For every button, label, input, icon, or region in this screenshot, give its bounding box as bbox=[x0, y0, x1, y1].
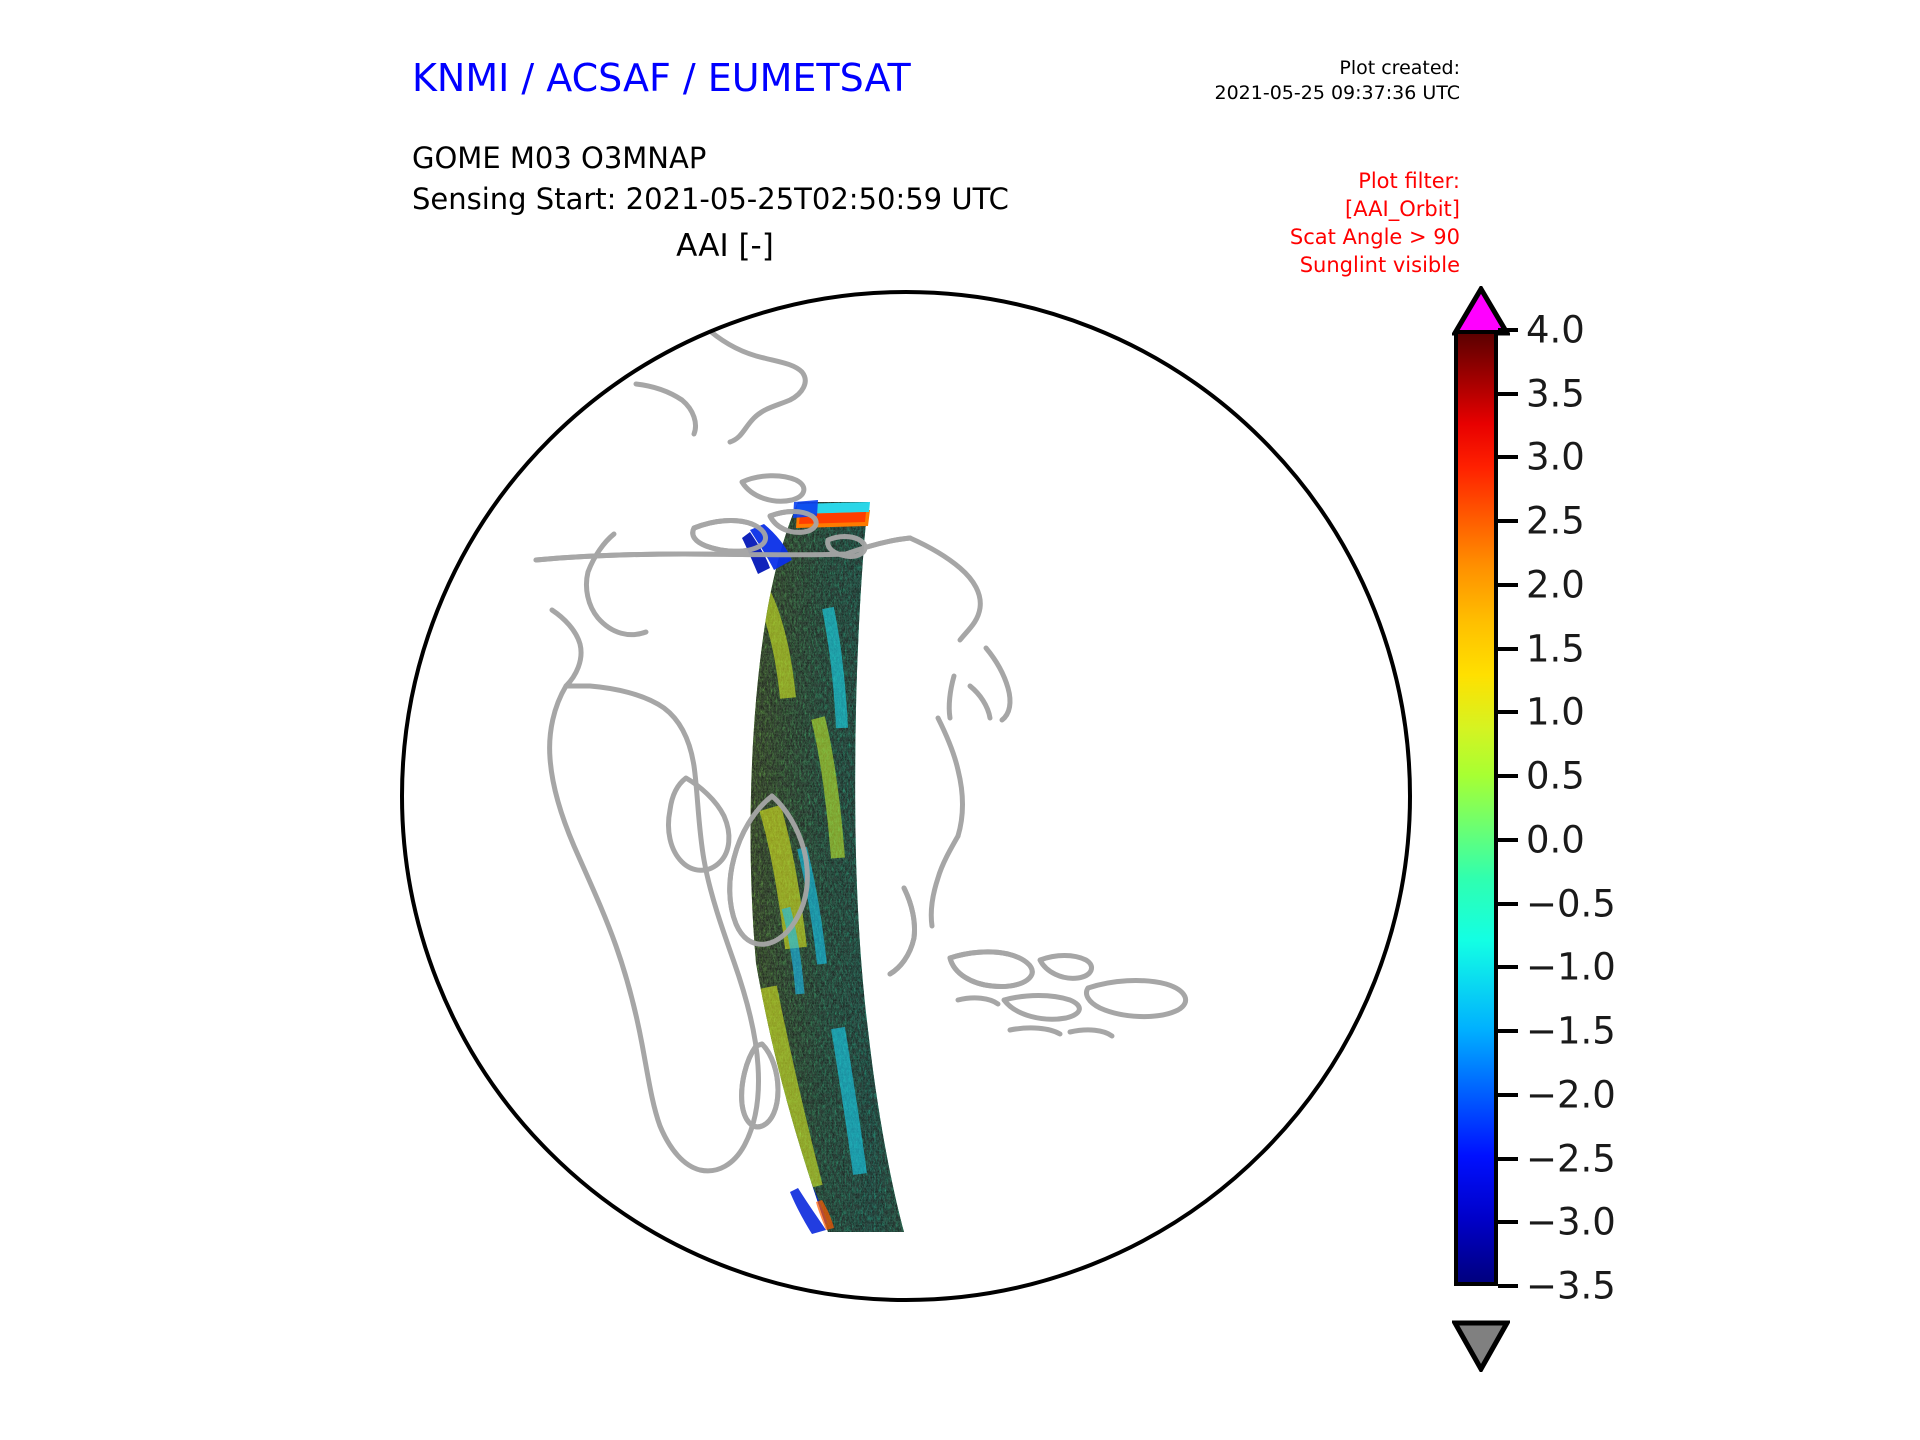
colorbar-gradient bbox=[1454, 330, 1498, 1286]
plot-created-timestamp: 2021-05-25 09:37:36 UTC bbox=[1110, 81, 1460, 106]
colorbar-tick-label: 3.5 bbox=[1526, 372, 1585, 415]
colorbar-tick bbox=[1498, 392, 1518, 396]
colorbar-tick bbox=[1498, 774, 1518, 778]
colorbar-tick bbox=[1498, 1157, 1518, 1161]
colorbar-tick bbox=[1498, 1093, 1518, 1097]
colorbar-tick bbox=[1498, 965, 1518, 969]
colorbar-tick bbox=[1498, 902, 1518, 906]
product-info-block: GOME M03 O3MNAP Sensing Start: 2021-05-2… bbox=[412, 138, 1009, 220]
colorbar-tick-label: 1.5 bbox=[1526, 627, 1585, 670]
colorbar: 4.03.53.02.52.01.51.00.50.0−0.5−1.0−1.5−… bbox=[1448, 286, 1868, 1316]
colorbar-tick bbox=[1498, 328, 1518, 332]
plot-filter-block: Plot filter: [AAI_Orbit] Scat Angle > 90… bbox=[1150, 168, 1460, 280]
colorbar-tick bbox=[1498, 647, 1518, 651]
colorbar-tick-label: −2.5 bbox=[1526, 1137, 1616, 1180]
colorbar-tick bbox=[1498, 455, 1518, 459]
sensing-start: Sensing Start: 2021-05-25T02:50:59 UTC bbox=[412, 179, 1009, 220]
colorbar-tick bbox=[1498, 838, 1518, 842]
plot-created-label: Plot created: bbox=[1110, 56, 1460, 81]
colorbar-tick-label: 2.0 bbox=[1526, 563, 1585, 606]
colorbar-tick bbox=[1498, 583, 1518, 587]
colorbar-tick-label: −1.0 bbox=[1526, 946, 1616, 989]
colorbar-tick-label: −3.0 bbox=[1526, 1201, 1616, 1244]
colorbar-tick bbox=[1498, 1029, 1518, 1033]
colorbar-tick-label: 3.0 bbox=[1526, 436, 1585, 479]
colorbar-tick bbox=[1498, 519, 1518, 523]
colorbar-tick-label: −2.0 bbox=[1526, 1073, 1616, 1116]
plot-filter-title: Plot filter: bbox=[1150, 168, 1460, 196]
plot-filter-line-2: Sunglint visible bbox=[1150, 252, 1460, 280]
plot-filter-line-1: Scat Angle > 90 bbox=[1150, 224, 1460, 252]
colorbar-tick-label: −3.5 bbox=[1526, 1265, 1616, 1308]
colorbar-tick-label: 0.5 bbox=[1526, 755, 1585, 798]
colorbar-tick-label: −1.5 bbox=[1526, 1010, 1616, 1053]
colorbar-tick-label: 1.0 bbox=[1526, 691, 1585, 734]
colorbar-tick-label: 4.0 bbox=[1526, 309, 1585, 352]
colorbar-tick-label: 2.5 bbox=[1526, 500, 1585, 543]
plot-created-block: Plot created: 2021-05-25 09:37:36 UTC bbox=[1110, 56, 1460, 106]
map-svg bbox=[398, 288, 1414, 1304]
plot-filter-line-0: [AAI_Orbit] bbox=[1150, 196, 1460, 224]
colorbar-tick-label: 0.0 bbox=[1526, 818, 1585, 861]
globe-map bbox=[398, 288, 1414, 1304]
colorbar-tick bbox=[1498, 710, 1518, 714]
globe-disc bbox=[402, 292, 1410, 1300]
colorbar-tick bbox=[1498, 1220, 1518, 1224]
organisation-title: KNMI / ACSAF / EUMETSAT bbox=[412, 56, 911, 100]
product-name: GOME M03 O3MNAP bbox=[412, 138, 1009, 179]
colorbar-tick-label: −0.5 bbox=[1526, 882, 1616, 925]
colorbar-tick bbox=[1498, 1284, 1518, 1288]
